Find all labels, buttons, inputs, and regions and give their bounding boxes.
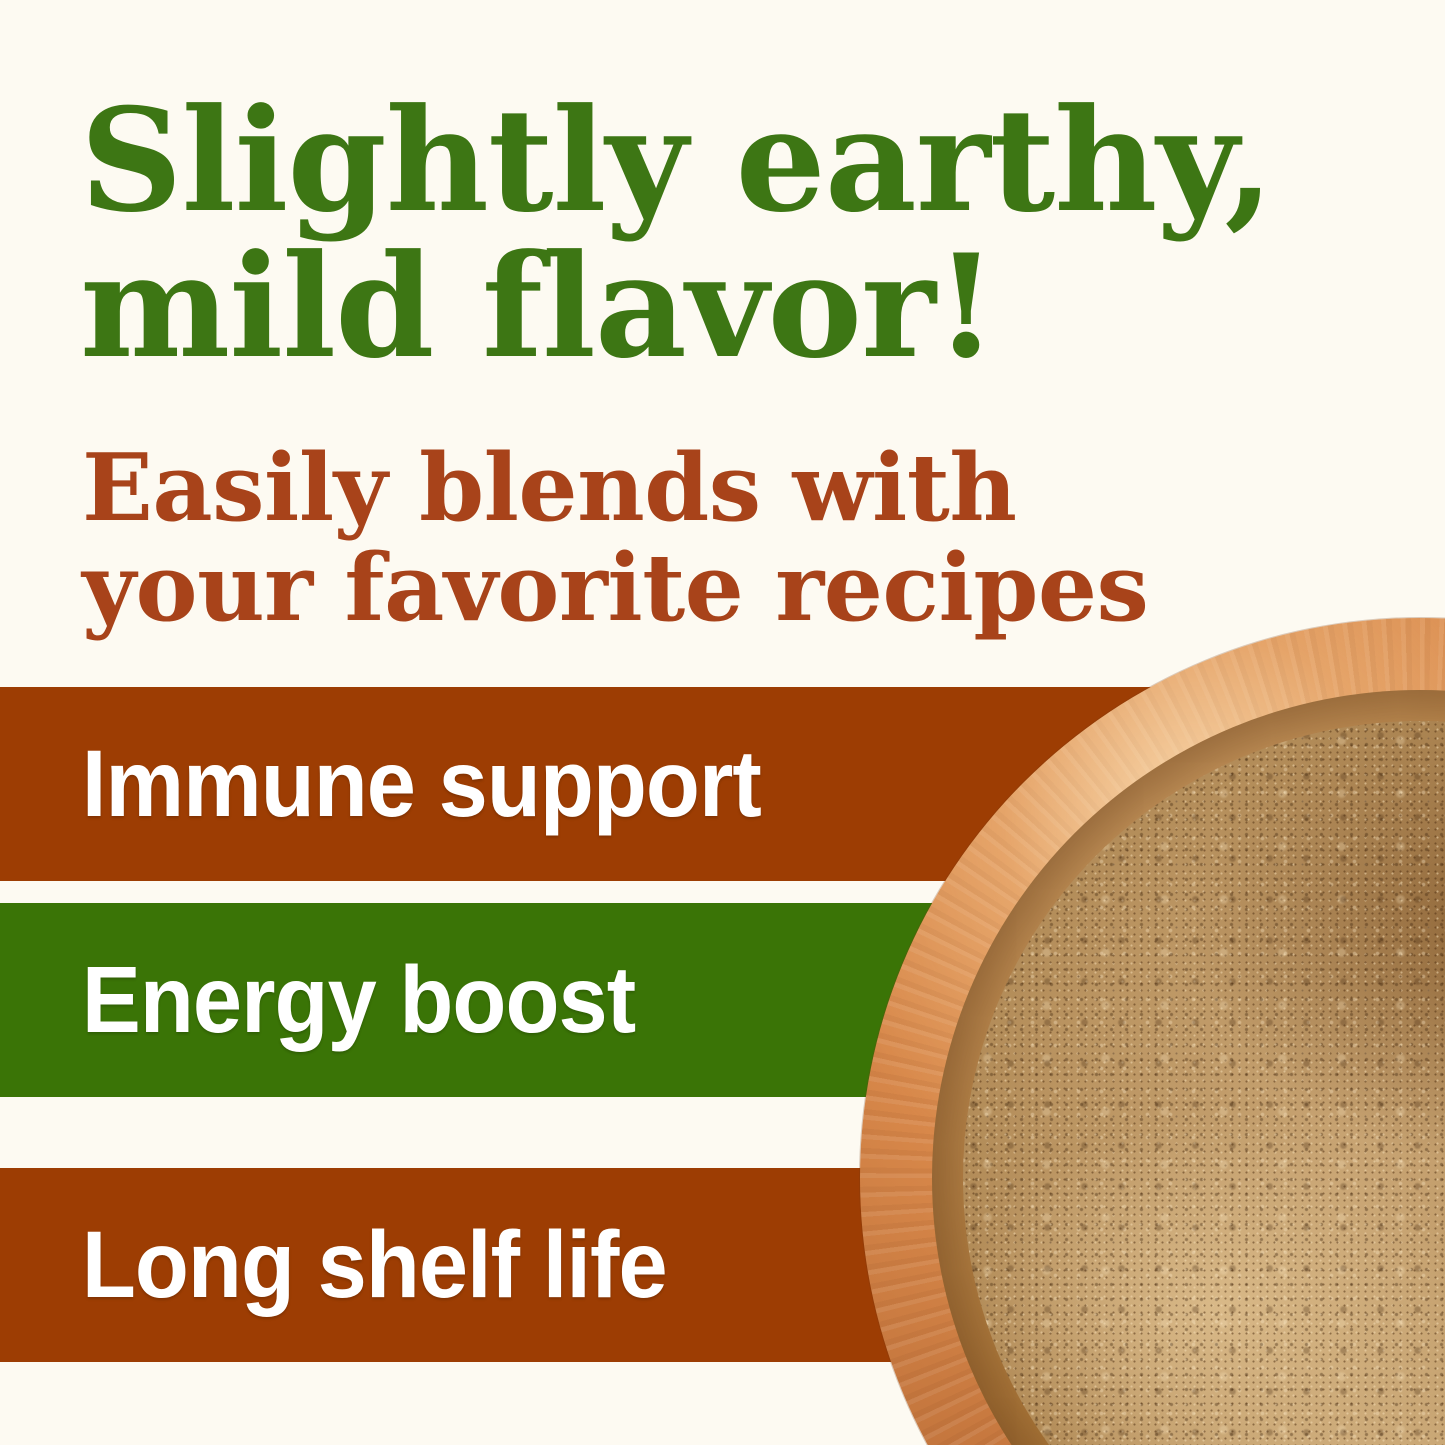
subheadline-line-1: Easily blends with [82,438,1422,538]
benefit-bar-label: Energy boost [0,953,635,1048]
benefit-bar-energy-boost: Energy boost [0,903,1445,1097]
headline: Slightly earthy, mild flavor! [80,88,1420,381]
benefit-bar-label: Long shelf life [0,1218,667,1313]
benefit-bar-label: Immune support [0,737,761,832]
product-feature-graphic: Slightly earthy, mild flavor! Easily ble… [0,0,1445,1445]
benefit-bar-immune-support: Immune support [0,687,1445,881]
benefit-bar-long-shelf-life: Long shelf life [0,1168,1445,1362]
subheadline: Easily blends with your favorite recipes [82,438,1422,637]
subheadline-line-2: your favorite recipes [82,538,1422,638]
headline-line-1: Slightly earthy, [80,88,1420,234]
headline-line-2: mild flavor! [80,234,1420,380]
